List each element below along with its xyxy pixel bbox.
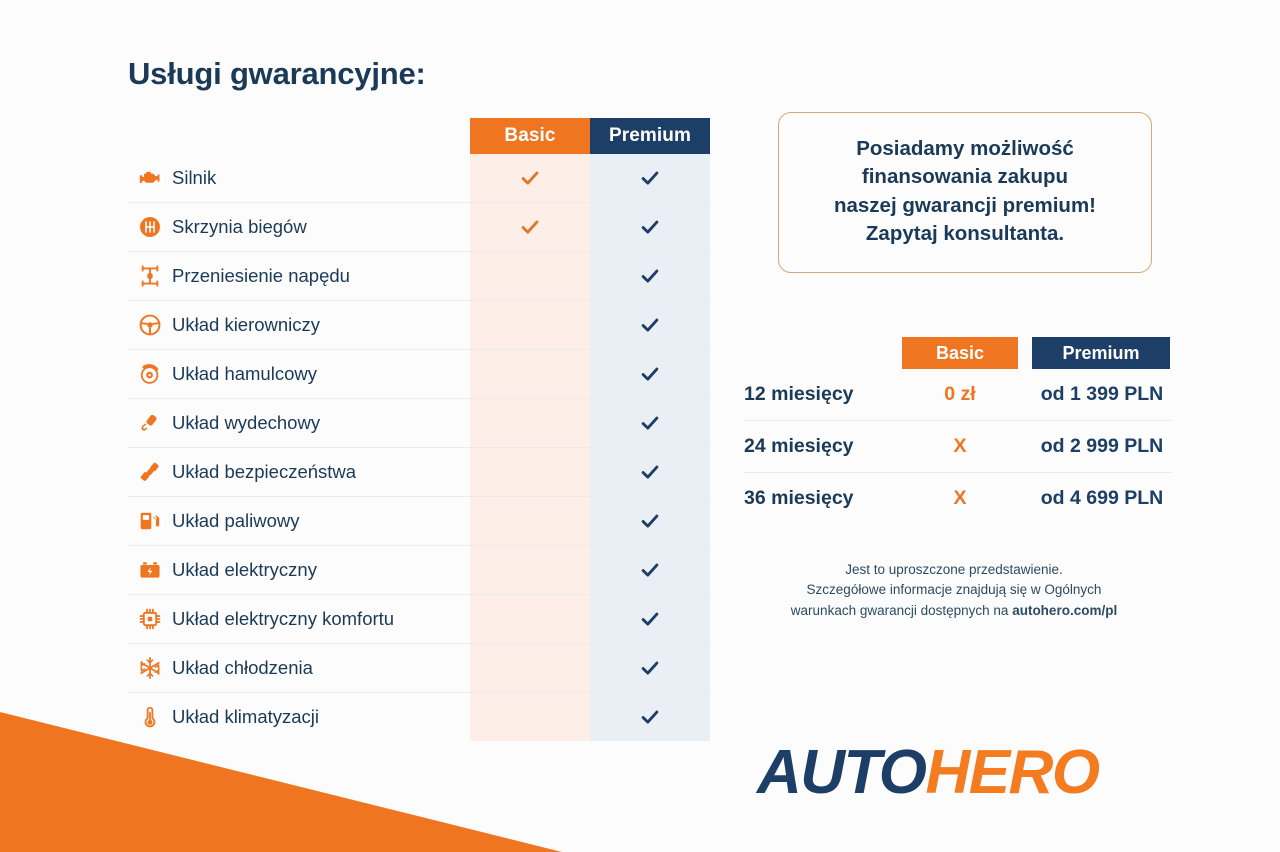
checkmark-icon	[639, 216, 661, 238]
basic-cell	[470, 301, 590, 349]
autohero-logo: AUTOHERO	[757, 742, 1099, 804]
premium-cell	[590, 448, 710, 496]
drivetrain-axle-icon	[128, 263, 172, 289]
disclaimer-line-2: Szczegółowe informacje znajdują się w Og…	[744, 580, 1164, 600]
basic-cell	[470, 203, 590, 251]
pricing-table-header: Basic Premium	[744, 337, 1172, 369]
feature-label: Układ elektryczny komfortu	[172, 608, 470, 630]
warranty-feature-table: Basic Premium SilnikSkrzynia biegówPrzen…	[128, 118, 710, 741]
feature-table-header: Basic Premium	[470, 118, 710, 154]
premium-cell	[590, 546, 710, 594]
column-header-basic: Basic	[470, 118, 590, 154]
pricing-row-list: 12 miesięcy0 złod 1 399 PLN24 miesięcyXo…	[744, 369, 1172, 524]
premium-cell	[590, 252, 710, 300]
basic-cell	[470, 497, 590, 545]
premium-cell	[590, 203, 710, 251]
table-row: Układ klimatyzacji	[128, 693, 710, 741]
fuel-pump-icon	[128, 508, 172, 534]
financing-callout-text: Posiadamy możliwość finansowania zakupu …	[795, 135, 1135, 248]
basic-cell	[470, 399, 590, 447]
gearbox-icon	[128, 214, 172, 240]
basic-cell	[470, 595, 590, 643]
premium-cell	[590, 595, 710, 643]
financing-and-pricing-panel: Posiadamy możliwość finansowania zakupu …	[730, 56, 1170, 621]
table-row: Silnik	[128, 154, 710, 203]
feature-label: Układ hamulcowy	[172, 363, 470, 385]
pricing-term-label: 24 miesięcy	[744, 435, 902, 458]
feature-label: Silnik	[172, 167, 470, 189]
feature-label: Układ chłodzenia	[172, 657, 470, 679]
checkmark-icon	[639, 363, 661, 385]
table-row: Układ hamulcowy	[128, 350, 710, 399]
warranty-services-panel: Usługi gwarancyjne: Basic Premium Silnik…	[128, 56, 714, 741]
disclaimer-line-3: warunkach gwarancji dostępnych na autohe…	[744, 601, 1164, 621]
disclaimer-text: Jest to uproszczone przedstawienie. Szcz…	[744, 560, 1164, 621]
feature-label: Układ elektryczny	[172, 559, 470, 581]
brake-disc-icon	[128, 361, 172, 387]
pricing-row: 12 miesięcy0 złod 1 399 PLN	[744, 369, 1172, 421]
pricing-table: Basic Premium 12 miesięcy0 złod 1 399 PL…	[744, 337, 1172, 524]
table-row: Układ chłodzenia	[128, 644, 710, 693]
pricing-premium-value: od 2 999 PLN	[1032, 435, 1172, 458]
logo-text-auto: AUTO	[757, 738, 926, 807]
pricing-column-header-basic: Basic	[902, 337, 1018, 369]
table-row: Układ paliwowy	[128, 497, 710, 546]
snowflake-icon	[128, 655, 172, 681]
table-row: Układ elektryczny komfortu	[128, 595, 710, 644]
pricing-row: 36 miesięcyXod 4 699 PLN	[744, 473, 1172, 524]
pricing-row: 24 miesięcyXod 2 999 PLN	[744, 421, 1172, 473]
feature-label: Przeniesienie napędu	[172, 265, 470, 287]
premium-cell	[590, 154, 710, 202]
engine-icon	[128, 165, 172, 191]
premium-cell	[590, 301, 710, 349]
logo-text-hero: HERO	[926, 738, 1099, 807]
basic-cell	[470, 644, 590, 692]
feature-row-list: SilnikSkrzynia biegówPrzeniesienie napęd…	[128, 154, 710, 741]
autohero-website-link[interactable]: autohero.com/pl	[1012, 603, 1117, 618]
pricing-column-header-premium: Premium	[1032, 337, 1170, 369]
pricing-premium-value: od 4 699 PLN	[1032, 487, 1172, 510]
pricing-term-label: 12 miesięcy	[744, 383, 902, 406]
table-row: Układ elektryczny	[128, 546, 710, 595]
disclaimer-line-3-prefix: warunkach gwarancji dostępnych na	[791, 603, 1012, 618]
feature-label: Układ bezpieczeństwa	[172, 461, 470, 483]
pricing-basic-value: 0 zł	[902, 383, 1018, 406]
column-header-premium: Premium	[590, 118, 710, 154]
basic-cell	[470, 546, 590, 594]
checkmark-icon	[639, 657, 661, 679]
basic-cell	[470, 448, 590, 496]
page-title: Usługi gwarancyjne:	[128, 56, 714, 92]
premium-cell	[590, 399, 710, 447]
premium-cell	[590, 693, 710, 741]
microchip-icon	[128, 606, 172, 632]
battery-icon	[128, 557, 172, 583]
pricing-header-spacer	[744, 337, 902, 369]
pricing-basic-value: X	[902, 435, 1018, 458]
pricing-basic-value: X	[902, 487, 1018, 510]
checkmark-icon	[639, 314, 661, 336]
financing-callout-box: Posiadamy możliwość finansowania zakupu …	[778, 112, 1152, 273]
disclaimer-line-1: Jest to uproszczone przedstawienie.	[744, 560, 1164, 580]
steering-wheel-icon	[128, 312, 172, 338]
checkmark-icon	[519, 167, 541, 189]
feature-label: Skrzynia biegów	[172, 216, 470, 238]
basic-cell	[470, 350, 590, 398]
pricing-header-gap	[1018, 337, 1032, 369]
checkmark-icon	[639, 265, 661, 287]
exhaust-muffler-icon	[128, 410, 172, 436]
basic-cell	[470, 252, 590, 300]
basic-cell	[470, 693, 590, 741]
seatbelt-icon	[128, 459, 172, 485]
checkmark-icon	[639, 510, 661, 532]
thermometer-icon	[128, 704, 172, 730]
feature-label: Układ paliwowy	[172, 510, 470, 532]
table-row: Skrzynia biegów	[128, 203, 710, 252]
checkmark-icon	[639, 167, 661, 189]
premium-cell	[590, 644, 710, 692]
checkmark-icon	[639, 461, 661, 483]
feature-label: Układ kierowniczy	[172, 314, 470, 336]
checkmark-icon	[639, 412, 661, 434]
table-row: Układ bezpieczeństwa	[128, 448, 710, 497]
table-row: Układ kierowniczy	[128, 301, 710, 350]
checkmark-icon	[639, 559, 661, 581]
basic-cell	[470, 154, 590, 202]
table-row: Układ wydechowy	[128, 399, 710, 448]
checkmark-icon	[639, 706, 661, 728]
table-row: Przeniesienie napędu	[128, 252, 710, 301]
checkmark-icon	[639, 608, 661, 630]
pricing-term-label: 36 miesięcy	[744, 487, 902, 510]
pricing-premium-value: od 1 399 PLN	[1032, 383, 1172, 406]
feature-label: Układ klimatyzacji	[172, 706, 470, 728]
premium-cell	[590, 497, 710, 545]
feature-label: Układ wydechowy	[172, 412, 470, 434]
checkmark-icon	[519, 216, 541, 238]
premium-cell	[590, 350, 710, 398]
